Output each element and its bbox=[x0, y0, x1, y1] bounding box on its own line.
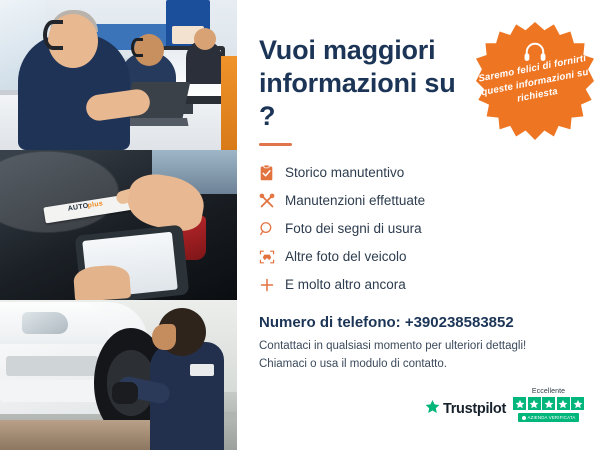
page-title: Vuoi maggiori informazioni su ? bbox=[259, 34, 474, 133]
car-lift-shape bbox=[0, 420, 160, 450]
list-item: Foto dei segni di usura bbox=[259, 216, 578, 242]
car-headlight-shape bbox=[22, 312, 68, 334]
verified-check-icon bbox=[522, 416, 526, 420]
title-underline bbox=[259, 143, 292, 146]
second-hand-shape bbox=[73, 264, 131, 300]
car-scan-icon bbox=[259, 249, 285, 265]
call-center-photo bbox=[0, 0, 237, 150]
sticker-on-car-photo: AUTOplus bbox=[0, 150, 237, 300]
phone-number-line[interactable]: Numero di telefono: +390238583852 bbox=[259, 314, 578, 331]
person-back-head-shape bbox=[194, 28, 216, 50]
list-item-label: E molto altro ancora bbox=[285, 277, 406, 292]
contact-subtext-line-1: Contattaci in qualsiasi momento per ulte… bbox=[259, 340, 526, 352]
tablet-line bbox=[91, 255, 159, 265]
trustpilot-star-icon bbox=[425, 399, 440, 419]
magnifier-icon bbox=[259, 221, 285, 237]
trustpilot-logo: Trustpilot bbox=[425, 399, 506, 422]
list-item: Altre foto del veicolo bbox=[259, 244, 578, 270]
photo-column: AUTOplus bbox=[0, 0, 237, 450]
star-filled-icon bbox=[542, 397, 555, 410]
trustpilot-stars bbox=[513, 397, 584, 410]
verified-company-badge: AZIENDA VERIFICATA bbox=[518, 413, 580, 422]
star-filled-icon bbox=[557, 397, 570, 410]
trustpilot-rating-label: Eccellente bbox=[532, 388, 565, 395]
feature-list: Storico manutentivo Manutenzioni effettu… bbox=[259, 160, 578, 298]
list-item-label: Storico manutentivo bbox=[285, 165, 404, 180]
trustpilot-name: Trustpilot bbox=[443, 401, 506, 417]
trustpilot-rating: Eccellente AZIENDA VERIFICATA bbox=[513, 388, 584, 422]
person-front-head-shape bbox=[48, 14, 98, 68]
person-mid-head-shape bbox=[134, 34, 164, 66]
trustpilot-widget[interactable]: Trustpilot Eccellente AZIENDA VERIFICATA bbox=[425, 388, 584, 422]
content-panel: Vuoi maggiori informazioni su ? Storico … bbox=[237, 0, 600, 450]
verified-company-label: AZIENDA VERIFICATA bbox=[528, 415, 576, 420]
orange-pole-shape bbox=[221, 56, 237, 150]
contact-subtext-line-2: Chiamaci o usa il modulo di contatto. bbox=[259, 358, 447, 370]
mechanic-glove-shape bbox=[112, 382, 138, 404]
list-item: Storico manutentivo bbox=[259, 160, 578, 186]
list-item: E molto altro ancora bbox=[259, 272, 578, 298]
info-on-request-badge: Saremo felici di fornirti queste informa… bbox=[476, 22, 594, 140]
plus-icon bbox=[259, 277, 285, 293]
mechanic-face-shape bbox=[152, 324, 176, 350]
mechanic-wheel-photo bbox=[0, 300, 237, 450]
uniform-logo-shape bbox=[190, 364, 214, 376]
star-filled-icon bbox=[571, 397, 584, 410]
car-grille-shape bbox=[6, 356, 98, 376]
list-item-label: Manutenzioni effettuate bbox=[285, 193, 425, 208]
clipboard-check-icon bbox=[259, 165, 285, 181]
list-item: Manutenzioni effettuate bbox=[259, 188, 578, 214]
star-filled-icon bbox=[513, 397, 526, 410]
crossed-tools-icon bbox=[259, 193, 285, 209]
list-item-label: Altre foto del veicolo bbox=[285, 249, 407, 264]
tablet-line bbox=[90, 247, 144, 256]
star-filled-icon bbox=[528, 397, 541, 410]
advertisement-banner: AUTOplus bbox=[0, 0, 600, 450]
list-item-label: Foto dei segni di usura bbox=[285, 221, 422, 236]
contact-subtext: Contattaci in qualsiasi momento per ulte… bbox=[259, 338, 578, 374]
